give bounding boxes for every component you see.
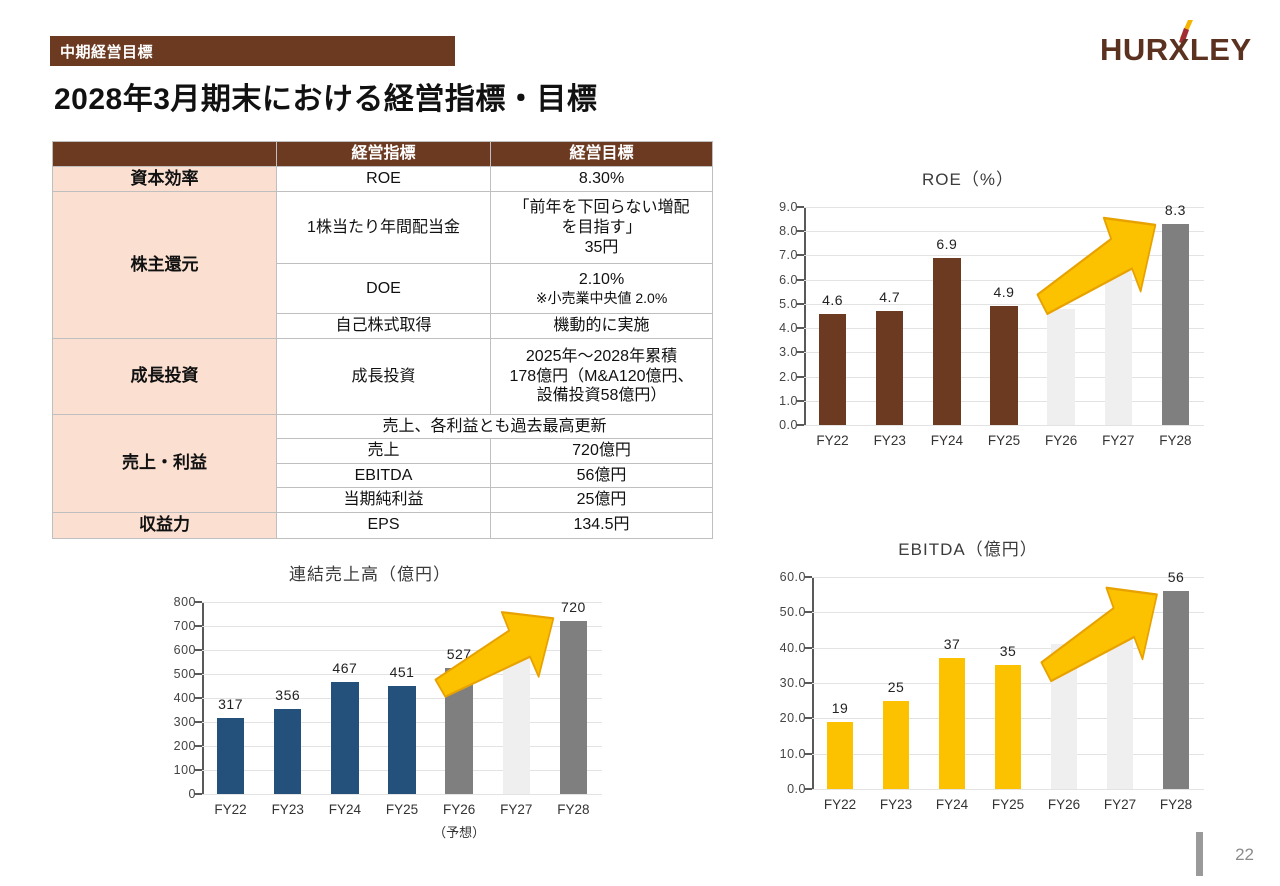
row-category: 成長投資: [53, 338, 277, 414]
y-axis-tick: [195, 721, 202, 723]
bar-fy23: [883, 701, 910, 789]
bar-value-label: 56: [1148, 569, 1204, 585]
y-axis-label: 0.0: [787, 782, 806, 796]
bar-value-label: 720: [545, 599, 602, 615]
y-axis-tick: [797, 206, 804, 208]
bar-value-label: 19: [812, 700, 868, 716]
x-axis-label: FY25: [980, 797, 1036, 812]
x-axis-label: FY22: [202, 802, 259, 817]
row-index: 当期純利益: [277, 488, 491, 513]
table-header-index: 経営指標: [277, 142, 491, 167]
row-goal: 25億円: [491, 488, 713, 513]
gridline: [812, 612, 1204, 613]
row-goal: 134.5円: [491, 512, 713, 538]
gridline: [812, 789, 1204, 790]
y-axis-tick: [195, 697, 202, 699]
x-axis-label: FY26: [1033, 433, 1090, 448]
y-axis-tick: [797, 351, 804, 353]
y-axis-label: 1.0: [779, 394, 798, 408]
row-goal: 「前年を下回らない増配 を目指す」 35円: [491, 192, 713, 264]
bar-fy25: [388, 686, 415, 794]
row-index: EPS: [277, 512, 491, 538]
bar-fy28: [560, 621, 587, 794]
bar-value-label: 6.9: [918, 236, 975, 252]
bar-value-label: 4.6: [804, 292, 861, 308]
table-row: 成長投資 成長投資 2025年〜2028年累積 178億円（M&A120億円、 …: [53, 338, 713, 414]
bar-fy25: [990, 306, 1017, 425]
plot-area: 0.01.02.03.04.05.06.07.08.09.04.6FY224.7…: [804, 207, 1204, 425]
bar-fy22: [819, 314, 846, 425]
x-axis-label: FY22: [804, 433, 861, 448]
x-axis-label: FY23: [259, 802, 316, 817]
y-axis-label: 10.0: [780, 747, 806, 761]
y-axis-tick: [797, 327, 804, 329]
bar-value-label: 467: [316, 660, 373, 676]
bar-fy28: [1162, 224, 1189, 425]
x-axis-label: FY26: [1036, 797, 1092, 812]
row-category: 資本効率: [53, 166, 277, 192]
row-index: 売上: [277, 439, 491, 464]
table-header-goal: 経営目標: [491, 142, 713, 167]
y-axis-tick: [195, 601, 202, 603]
x-axis-label: FY27: [1092, 797, 1148, 812]
chart-sales: 連結売上高（億円） 0100200300400500600700800317FY…: [150, 560, 620, 880]
company-logo: HURXLEY: [1096, 14, 1256, 70]
y-axis-label: 0: [189, 787, 196, 801]
x-axis-label: FY27: [488, 802, 545, 817]
chart-title: ROE（%）: [748, 165, 1188, 190]
row-category: 売上・利益: [53, 414, 277, 512]
y-axis-tick: [805, 717, 812, 719]
row-goal: 8.30%: [491, 166, 713, 192]
chart-ebitda: EBITDA（億円） 0.010.020.030.040.050.060.019…: [748, 535, 1218, 835]
y-axis-tick: [797, 230, 804, 232]
slide-root: 中期経営目標 2028年3月期末における経営指標・目標 HURXLEY 経営指標…: [0, 0, 1280, 886]
svg-text:HURXLEY: HURXLEY: [1100, 32, 1252, 67]
plot-area: 0100200300400500600700800317FY22356FY234…: [202, 602, 602, 794]
plot-area: 0.010.020.030.040.050.060.019FY2225FY233…: [812, 577, 1204, 789]
table-row: 収益力 EPS 134.5円: [53, 512, 713, 538]
y-axis-tick: [195, 745, 202, 747]
y-axis-label: 800: [174, 595, 196, 609]
y-axis-tick: [797, 303, 804, 305]
y-axis-tick: [805, 788, 812, 790]
row-category: 株主還元: [53, 192, 277, 339]
y-axis-label: 500: [174, 667, 196, 681]
table-row: 売上・利益 売上、各利益とも過去最高更新: [53, 414, 713, 439]
bar-value-label: 4.7: [861, 289, 918, 305]
row-goal: 720億円: [491, 439, 713, 464]
row-index: 1株当たり年間配当金: [277, 192, 491, 264]
y-axis-tick: [797, 424, 804, 426]
gridline: [812, 577, 1204, 578]
page-title: 2028年3月期末における経営指標・目標: [54, 74, 597, 118]
y-axis-label: 700: [174, 619, 196, 633]
y-axis-label: 5.0: [779, 297, 798, 311]
y-axis-label: 50.0: [780, 605, 806, 619]
gridline: [804, 207, 1204, 208]
bar-value-label: 35: [980, 643, 1036, 659]
y-axis-label: 100: [174, 763, 196, 777]
x-axis-label: FY24: [924, 797, 980, 812]
y-axis-tick: [195, 625, 202, 627]
row-index: ROE: [277, 166, 491, 192]
y-axis-label: 0.0: [779, 418, 798, 432]
gridline: [804, 425, 1204, 426]
row-index: 自己株式取得: [277, 314, 491, 339]
bar-fy27: [1107, 619, 1134, 789]
gridline: [202, 626, 602, 627]
growth-arrow-icon: [1035, 211, 1158, 316]
kpi-table: 経営指標 経営目標 資本効率 ROE 8.30% 株主還元 1株当たり年間配当金…: [52, 141, 713, 539]
y-axis-tick: [797, 376, 804, 378]
y-axis-label: 6.0: [779, 273, 798, 287]
y-axis-label: 600: [174, 643, 196, 657]
bar-fy26: [1047, 309, 1074, 425]
y-axis-line: [804, 207, 806, 425]
bar-fy25: [995, 665, 1022, 789]
y-axis-label: 9.0: [779, 200, 798, 214]
table-header-blank: [53, 142, 277, 167]
bar-value-label: 8.3: [1147, 202, 1204, 218]
y-axis-tick: [805, 753, 812, 755]
y-axis-label: 40.0: [780, 641, 806, 655]
gridline: [202, 794, 602, 795]
x-axis-label: FY24: [316, 802, 373, 817]
gridline: [202, 650, 602, 651]
row-index: EBITDA: [277, 463, 491, 488]
table-row: 資本効率 ROE 8.30%: [53, 166, 713, 192]
x-axis-label: FY27: [1090, 433, 1147, 448]
y-axis-tick: [805, 647, 812, 649]
row-goal: 2025年〜2028年累積 178億円（M&A120億円、 設備投資58億円）: [491, 338, 713, 414]
y-axis-tick: [805, 611, 812, 613]
y-axis-tick: [195, 673, 202, 675]
y-axis-tick: [195, 769, 202, 771]
bar-fy26: [445, 668, 472, 794]
x-axis-label: FY23: [868, 797, 924, 812]
row-category: 収益力: [53, 512, 277, 538]
row-merged-note: 売上、各利益とも過去最高更新: [277, 414, 713, 439]
x-axis-label: FY26: [431, 802, 488, 817]
y-axis-label: 300: [174, 715, 196, 729]
y-axis-label: 30.0: [780, 676, 806, 690]
y-axis-label: 20.0: [780, 711, 806, 725]
y-axis-tick: [797, 400, 804, 402]
table-header-row: 経営指標 経営目標: [53, 142, 713, 167]
row-goal-value: 2.10%: [494, 270, 709, 290]
y-axis-tick: [805, 682, 812, 684]
x-axis-label: FY28: [1147, 433, 1204, 448]
gridline: [804, 231, 1204, 232]
y-axis-label: 4.0: [779, 321, 798, 335]
row-index: 成長投資: [277, 338, 491, 414]
bar-fy24: [933, 258, 960, 425]
bar-fy22: [217, 718, 244, 794]
y-axis-label: 400: [174, 691, 196, 705]
bar-value-label: 317: [202, 696, 259, 712]
bar-fy27: [503, 645, 530, 794]
x-axis-label: FY22: [812, 797, 868, 812]
bar-fy22: [827, 722, 854, 789]
y-axis-label: 200: [174, 739, 196, 753]
bar-value-label: 451: [373, 664, 430, 680]
bar-value-label: 25: [868, 679, 924, 695]
row-goal: 機動的に実施: [491, 314, 713, 339]
y-axis-tick: [797, 254, 804, 256]
x-axis-label: FY24: [918, 433, 975, 448]
bar-value-label: 356: [259, 687, 316, 703]
y-axis-label: 3.0: [779, 345, 798, 359]
y-axis-tick: [195, 649, 202, 651]
bar-value-label: 527: [431, 646, 488, 662]
y-axis-label: 60.0: [780, 570, 806, 584]
gridline: [202, 602, 602, 603]
x-axis-label: FY25: [975, 433, 1032, 448]
x-axis-label: FY28: [1148, 797, 1204, 812]
bar-fy28: [1163, 591, 1190, 789]
chart-roe: ROE（%） 0.01.02.03.04.05.06.07.08.09.04.6…: [748, 165, 1218, 455]
bar-fy24: [939, 658, 966, 789]
page-accent-bar: [1196, 832, 1203, 876]
bar-value-label: 4.9: [975, 284, 1032, 300]
x-axis-sublabel: （予想）: [431, 822, 488, 841]
gridline: [804, 255, 1204, 256]
bar-value-label: 37: [924, 636, 980, 652]
row-index: DOE: [277, 264, 491, 314]
row-goal: 56億円: [491, 463, 713, 488]
x-axis-label: FY28: [545, 802, 602, 817]
row-goal-note: ※小売業中央値 2.0%: [494, 290, 709, 307]
section-tag-label: 中期経営目標: [50, 41, 153, 62]
bar-fy24: [331, 682, 358, 794]
y-axis-label: 2.0: [779, 370, 798, 384]
y-axis-label: 8.0: [779, 224, 798, 238]
y-axis-tick: [805, 576, 812, 578]
section-tag-banner: 中期経営目標: [50, 36, 455, 66]
y-axis-label: 7.0: [779, 248, 798, 262]
y-axis-tick: [797, 279, 804, 281]
x-axis-label: FY25: [373, 802, 430, 817]
y-axis-tick: [195, 793, 202, 795]
chart-title: EBITDA（億円）: [748, 535, 1188, 560]
bar-fy23: [876, 311, 903, 425]
hurxley-logo-icon: HURXLEY: [1096, 14, 1256, 70]
table-row: 株主還元 1株当たり年間配当金 「前年を下回らない増配 を目指す」 35円: [53, 192, 713, 264]
gridline: [804, 280, 1204, 281]
page-number: 22: [1235, 845, 1254, 865]
bar-fy27: [1105, 265, 1132, 425]
row-goal: 2.10% ※小売業中央値 2.0%: [491, 264, 713, 314]
chart-title: 連結売上高（億円）: [150, 560, 590, 585]
x-axis-label: FY23: [861, 433, 918, 448]
bar-fy26: [1051, 644, 1078, 789]
bar-fy23: [274, 709, 301, 794]
